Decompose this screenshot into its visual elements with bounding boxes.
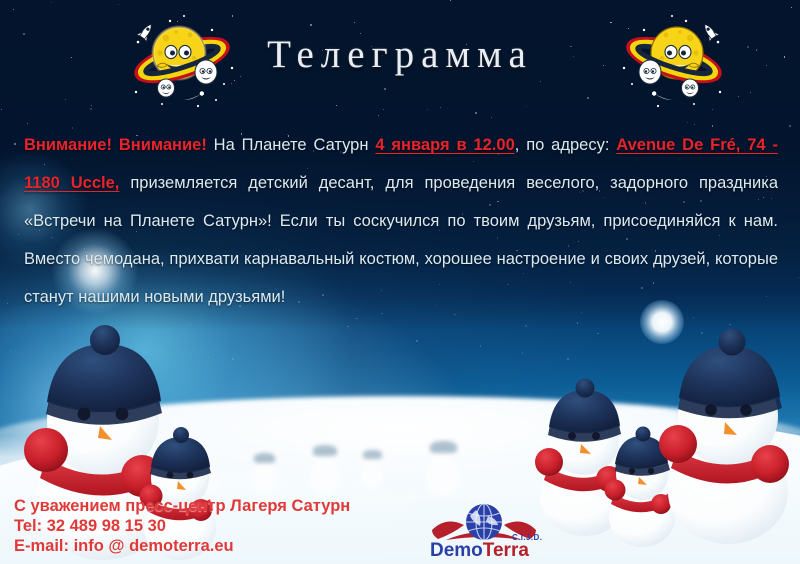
logo-name-demo: Demo — [430, 540, 483, 558]
footer-contact-block: С уважением пресс-центр Лагеря Сатурн Te… — [14, 496, 350, 556]
footer-email: E-mail: info @ demoterra.eu — [14, 536, 350, 556]
text-segment-1: На Планете Сатурн — [207, 136, 376, 154]
far-snowman-4 — [420, 444, 466, 502]
snowman-large-right — [648, 330, 800, 545]
alert-label: Внимание! Внимание! — [24, 136, 207, 154]
text-segment-3: приземляется детский десант, для проведе… — [24, 174, 778, 306]
far-snowman-3 — [357, 452, 387, 494]
poster-canvas: Телеграмма Внимание! Внимание! На Планет… — [0, 0, 800, 564]
announcement-text: Внимание! Внимание! На Планете Сатурн 4 … — [24, 126, 778, 316]
text-segment-2: , по адресу: — [515, 136, 617, 154]
footer-signature: С уважением пресс-центр Лагеря Сатурн — [14, 496, 350, 516]
far-snowman-2 — [305, 448, 345, 500]
comet-icon — [183, 91, 204, 102]
page-title: Телеграмма — [0, 32, 800, 77]
far-snowman-1 — [247, 455, 281, 499]
logo-name-terra: Terra — [483, 540, 530, 558]
footer-phone: Tel: 32 489 98 15 30 — [14, 516, 350, 536]
event-datetime: 4 января в 12.00 — [375, 136, 514, 154]
moon-mascot-tiny — [158, 79, 175, 97]
svg-text:DemoTerra: DemoTerra — [430, 540, 529, 558]
demoterra-logo: C.I.J.D. DemoTerra — [424, 500, 544, 558]
